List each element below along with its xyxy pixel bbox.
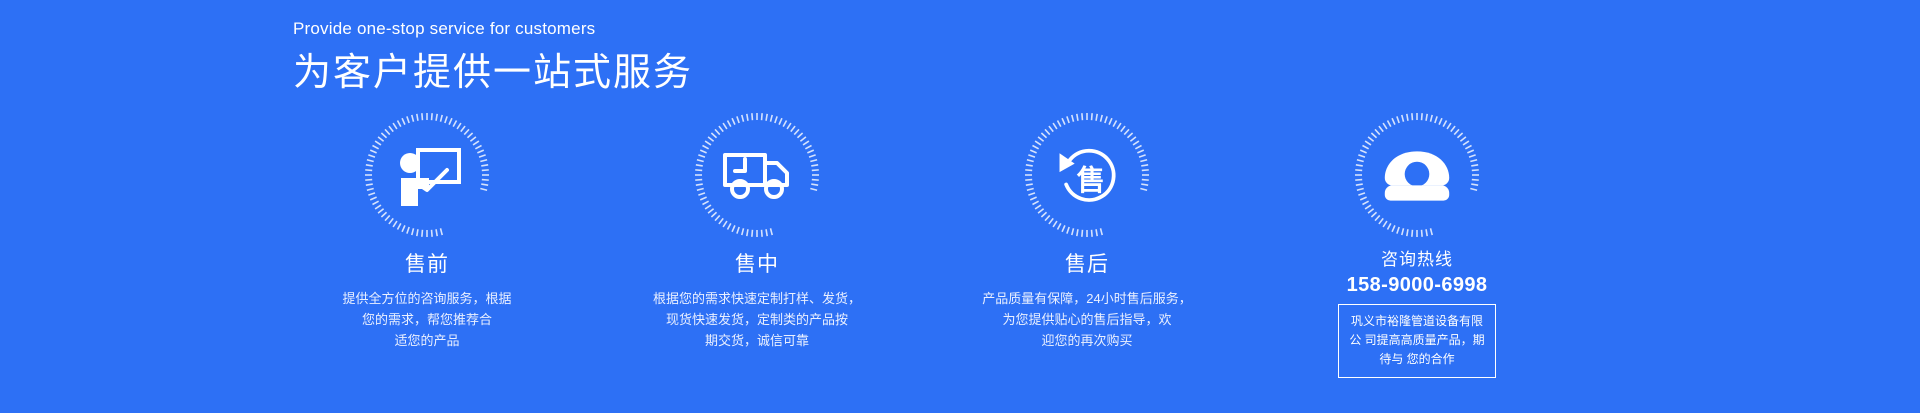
service-columns: 售前 提供全方位的咨询服务，根据 您的需求，帮您推荐合 适您的产品 [293,112,1553,378]
company-note-box: 巩义市裕隆管道设备有限公 司提高高质量产品，期待与 您的合作 [1338,304,1496,378]
desc-line: 现货快速发货，定制类的产品按 [653,309,861,330]
banner-heading: Provide one-stop service for customers 为… [293,16,1193,98]
column-title: 售中 [735,250,779,280]
after-sales-return-arrow-icon: 售 [1051,139,1123,211]
heading-english: Provide one-stop service for customers [293,16,1193,42]
service-column-aftersale[interactable]: 售 售后 产品质量有保障，24小时售后服务， 为您提供贴心的售后指导，欢 迎您的… [953,112,1221,351]
desc-line: 产品质量有保障，24小时售后服务， [982,288,1191,309]
column-description: 产品质量有保障，24小时售后服务， 为您提供贴心的售后指导，欢 迎您的再次购买 [982,288,1191,351]
service-banner: Provide one-stop service for customers 为… [0,0,1920,413]
icon-inner-char: 售 [1077,165,1105,197]
service-column-presale[interactable]: 售前 提供全方位的咨询服务，根据 您的需求，帮您推荐合 适您的产品 [293,112,561,351]
presenter-whiteboard-icon [391,139,463,211]
icon-wrap-aftersale: 售 [1024,112,1150,238]
desc-line: 您的需求，帮您推荐合 [342,309,511,330]
desc-line: 提供全方位的咨询服务，根据 [342,288,511,309]
desc-line: 期交货，诚信可靠 [653,330,861,351]
column-description: 提供全方位的咨询服务，根据 您的需求，帮您推荐合 适您的产品 [342,288,511,351]
desc-line: 根据您的需求快速定制打样、发货， [653,288,861,309]
desc-line: 为您提供贴心的售后指导，欢 [982,309,1191,330]
hotline-number[interactable]: 158-9000-6998 [1347,273,1488,298]
icon-wrap-insale [694,112,820,238]
icon-wrap-presale [364,112,490,238]
desc-line: 适您的产品 [342,330,511,351]
heading-chinese: 为客户提供一站式服务 [293,48,1193,98]
column-description: 根据您的需求快速定制打样、发货， 现货快速发货，定制类的产品按 期交货，诚信可靠 [653,288,861,351]
note-line: 您的合作 [1407,352,1455,366]
icon-wrap-hotline [1354,112,1480,238]
service-column-insale[interactable]: 售中 根据您的需求快速定制打样、发货， 现货快速发货，定制类的产品按 期交货，诚… [623,112,891,351]
service-column-hotline[interactable]: 咨询热线 158-9000-6998 巩义市裕隆管道设备有限公 司提高高质量产品… [1283,112,1551,378]
telephone-icon [1381,139,1453,211]
desc-line: 迎您的再次购买 [982,330,1191,351]
column-title: 售后 [1065,250,1109,280]
delivery-truck-clock-icon [721,139,793,211]
column-title: 售前 [405,250,449,280]
hotline-label: 咨询热线 [1381,248,1453,272]
